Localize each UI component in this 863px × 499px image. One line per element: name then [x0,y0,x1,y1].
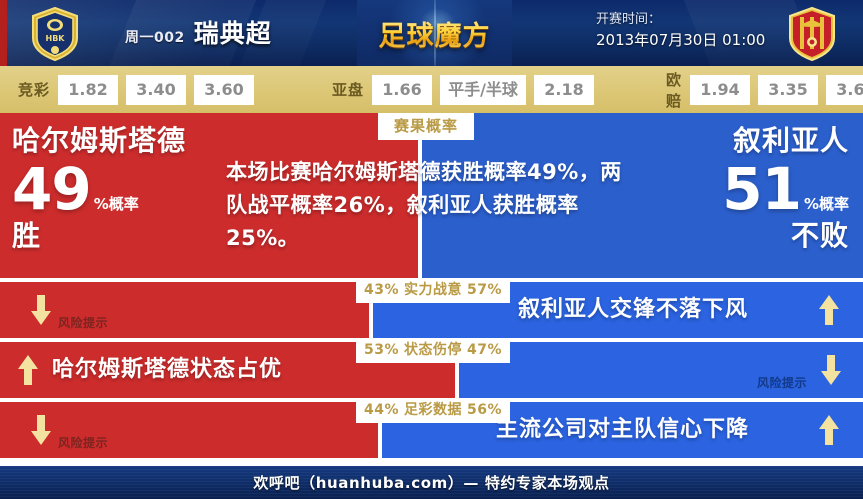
away-probability-value: 51 [722,160,801,218]
round-number: 周一002 [125,27,185,47]
row-left-risk-label: 风险提示 [58,434,108,451]
row-metric-name: 足彩数据 [404,402,462,418]
home-probability-block: 哈尔姆斯塔德 49 %概率 胜 [12,124,186,252]
row-right-text: 主流公司对主队信心下降 [496,416,749,444]
odds-bar: 竞彩 1.82 3.40 3.60 亚盘 1.66 平手/半球 2.18 欧赔 … [0,66,863,113]
away-team-name: 叙利亚人 [722,124,849,158]
row-metric-name: 状态伤停 [404,342,462,358]
header-bar: HBK 周一002 瑞典超 足球魔方 开赛时间 [0,0,863,66]
league-name: 瑞典超 [194,14,272,50]
odds-cell[interactable]: 3.66 [826,75,863,105]
odds-group-title: 亚盘 [332,79,364,100]
row-left-text: 哈尔姆斯塔德状态占优 [52,356,282,384]
footer-credit: 欢呼吧（huanhuba.com）— 特约专家本场观点 [253,472,609,493]
away-outcome-label: 不败 [722,220,849,252]
svg-text:HBK: HBK [46,34,66,43]
brand-logo: 足球魔方 [357,0,512,66]
row-right-risk-label: 风险提示 [757,374,807,391]
home-probability-unit: %概率 [94,197,139,212]
away-probability-unit: %概率 [804,197,849,212]
odds-cell[interactable]: 1.66 [372,75,432,105]
row-left-pct: 53% [364,342,399,358]
away-probability-block: 叙利亚人 51 %概率 不败 [722,124,849,252]
row-left-pct: 43% [364,282,399,298]
row-left-pct: 44% [364,402,399,418]
kickoff-label: 开赛时间： [596,10,765,29]
probability-summary-text: 本场比赛哈尔姆斯塔德获胜概率49%，两队战平概率26%，叙利亚人获胜概率25%。 [226,156,626,255]
row-left-bar [0,282,369,338]
arrow-up-icon [818,295,840,325]
odds-cell[interactable]: 3.35 [758,75,818,105]
row-metric-chip-form-injury: 53%状态伤停47% [356,338,510,363]
away-team-crest-icon [785,6,839,62]
arrow-up-icon [17,355,39,385]
home-probability-value: 49 [12,160,91,218]
kickoff-time: 开赛时间： 2013年07月30日 01:00 [596,10,765,51]
arrow-down-icon [820,355,842,385]
row-metric-chip-betting-data: 44%足彩数据56% [356,398,510,423]
footer-bar: 欢呼吧（huanhuba.com）— 特约专家本场观点 [0,466,863,499]
odds-group-title: 竞彩 [18,79,50,100]
home-outcome-label: 胜 [12,220,186,252]
odds-group-title: 欧赔 [666,69,682,111]
header-left-accent [0,0,7,66]
odds-cell[interactable]: 1.82 [58,75,118,105]
arrow-down-icon [30,295,52,325]
odds-cell[interactable]: 1.94 [690,75,750,105]
odds-cell[interactable]: 3.60 [194,75,254,105]
odds-cell[interactable]: 3.40 [126,75,186,105]
odds-group-oupei: 欧赔 1.94 3.35 3.66 [666,69,863,111]
row-right-pct: 57% [467,282,502,298]
kickoff-value: 2013年07月30日 01:00 [596,29,765,51]
row-left-risk-label: 风险提示 [58,314,108,331]
brand-logo-text: 足球魔方 [357,14,512,53]
row-metric-name: 实力战意 [404,282,462,298]
home-team-name: 哈尔姆斯塔德 [12,124,186,158]
row-left-bar [0,402,378,458]
row-metric-chip-strength: 43%实力战意57% [356,278,510,303]
match-preview-graphic: HBK 周一002 瑞典超 足球魔方 开赛时间 [0,0,863,499]
row-right-pct: 47% [467,342,502,358]
arrow-down-icon [30,415,52,445]
odds-group-yapan: 亚盘 1.66 平手/半球 2.18 [332,75,594,105]
match-title: 周一002 瑞典超 [125,14,272,50]
odds-group-jingcai: 竞彩 1.82 3.40 3.60 [18,75,254,105]
arrow-up-icon [818,415,840,445]
home-team-crest-icon: HBK [28,6,82,62]
odds-cell-handicap[interactable]: 平手/半球 [440,75,526,105]
row-right-text: 叙利亚人交锋不落下风 [518,296,748,324]
row-right-pct: 56% [467,402,502,418]
section-tab-result-probability[interactable]: 赛果概率 [378,113,474,140]
odds-cell[interactable]: 2.18 [534,75,594,105]
